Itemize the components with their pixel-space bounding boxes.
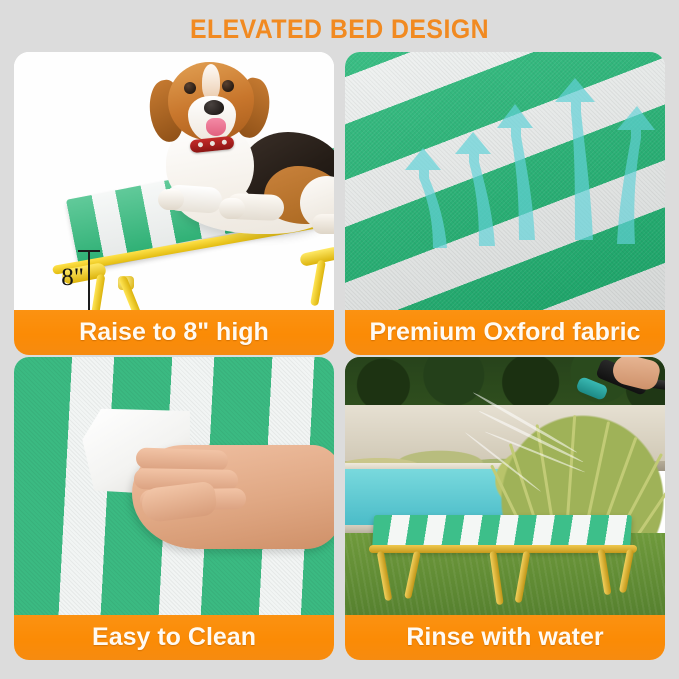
- panel-easy-clean-image: [14, 357, 334, 615]
- panel-raise-height: 8" Raise to 8" high: [14, 52, 334, 355]
- dog-eye-left: [184, 82, 196, 94]
- height-dimension-callout: 8": [42, 248, 152, 310]
- beagle-dog: [114, 58, 334, 263]
- page-title: ELEVATED BED DESIGN: [27, 14, 652, 45]
- dog-tongue: [206, 118, 226, 136]
- panel-rinse-water: Rinse with water: [345, 357, 665, 660]
- panel-rinse-water-image: [345, 357, 665, 615]
- infographic-root: ELEVATED BED DESIGN: [0, 0, 679, 679]
- dog-forehead-blaze: [202, 64, 220, 100]
- dog-front-paw-left: [158, 189, 184, 210]
- collar-stud: [222, 139, 227, 144]
- dog-nose: [204, 100, 224, 115]
- dog-front-paw-right: [219, 198, 245, 219]
- dog-rear-paw: [312, 214, 334, 234]
- dimension-line: [88, 250, 90, 310]
- panel-raise-height-image: 8": [14, 52, 334, 310]
- dog-eye-right: [222, 80, 234, 92]
- panel-rinse-water-caption: Rinse with water: [345, 615, 665, 660]
- dimension-label: 8": [42, 264, 84, 292]
- elevated-pet-bed: [373, 515, 631, 559]
- panel-easy-clean-caption: Easy to Clean: [14, 615, 334, 660]
- panel-easy-clean: Easy to Clean: [14, 357, 334, 660]
- airflow-arrow-icon: [593, 94, 665, 246]
- panel-raise-height-caption: Raise to 8" high: [14, 310, 334, 355]
- collar-stud: [210, 141, 215, 146]
- panel-oxford-fabric: Premium Oxford fabric: [345, 52, 665, 355]
- panel-oxford-fabric-image: [345, 52, 665, 310]
- panel-oxford-fabric-caption: Premium Oxford fabric: [345, 310, 665, 355]
- collar-stud: [198, 142, 203, 147]
